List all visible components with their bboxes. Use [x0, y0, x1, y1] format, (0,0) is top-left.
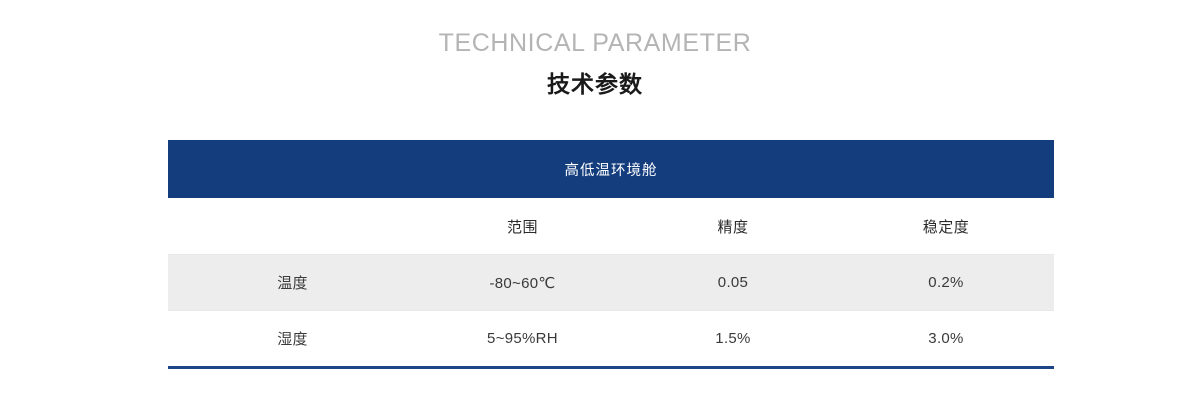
row-range: -80~60℃ — [417, 255, 628, 311]
table-row: 湿度 5~95%RH 1.5% 3.0% — [168, 311, 1054, 368]
technical-parameter-table: 高低温环境舱 范围 精度 稳定度 温度 -80~60℃ 0.05 0.2% 湿度… — [168, 140, 1054, 369]
spec-table-container: 高低温环境舱 范围 精度 稳定度 温度 -80~60℃ 0.05 0.2% 湿度… — [168, 140, 1054, 369]
table-row: 温度 -80~60℃ 0.05 0.2% — [168, 255, 1054, 311]
table-title-cell: 高低温环境舱 — [168, 140, 1054, 198]
row-range: 5~95%RH — [417, 311, 628, 368]
page-title-chinese: 技术参数 — [0, 69, 1190, 99]
row-label: 温度 — [168, 255, 417, 311]
column-header-range: 范围 — [417, 198, 628, 255]
row-accuracy: 1.5% — [628, 311, 838, 368]
row-accuracy: 0.05 — [628, 255, 838, 311]
page-heading: TECHNICAL PARAMETER 技术参数 — [0, 26, 1190, 99]
row-stability: 3.0% — [838, 311, 1054, 368]
table-header-row: 范围 精度 稳定度 — [168, 198, 1054, 255]
technical-parameter-page: TECHNICAL PARAMETER 技术参数 高低温环境舱 范围 精度 稳定… — [0, 0, 1190, 411]
column-header-stability: 稳定度 — [838, 198, 1054, 255]
table-title-row: 高低温环境舱 — [168, 140, 1054, 198]
row-label: 湿度 — [168, 311, 417, 368]
column-header-accuracy: 精度 — [628, 198, 838, 255]
page-title-english: TECHNICAL PARAMETER — [0, 26, 1190, 60]
row-stability: 0.2% — [838, 255, 1054, 311]
column-header-blank — [168, 198, 417, 255]
